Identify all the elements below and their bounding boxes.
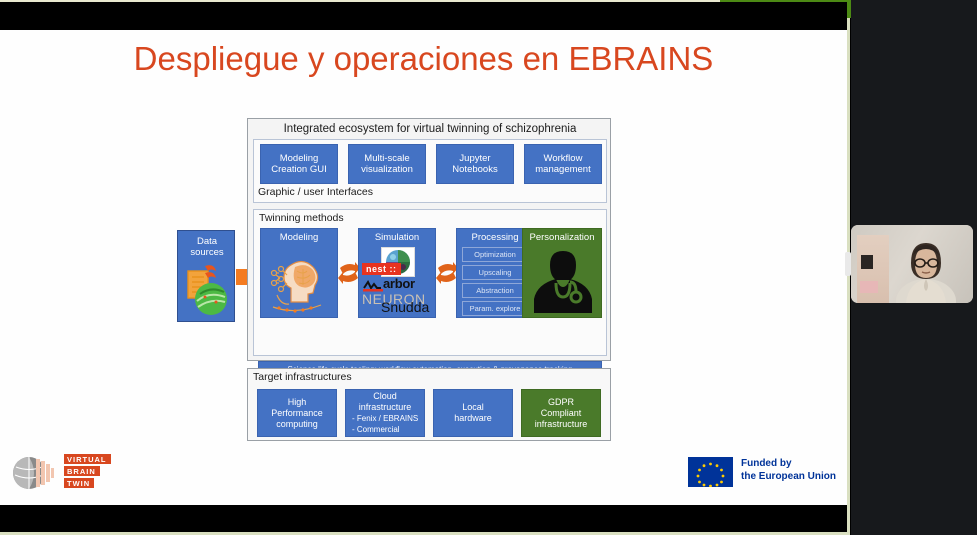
letterbox-bottom-bar bbox=[0, 505, 847, 532]
infrastructure-section-caption: Target infrastructures bbox=[253, 371, 352, 383]
brain-globe-logo-icon bbox=[10, 453, 58, 493]
shared-screen-stage[interactable]: Despliegue y operaciones en EBRAINS Data… bbox=[0, 0, 851, 535]
gui-box-line2: Creation GUI bbox=[271, 164, 326, 176]
target-infrastructures-panel: Target infrastructures High Performance … bbox=[247, 368, 611, 441]
arbor-text: arbor bbox=[383, 276, 415, 291]
gui-box-line1: Modeling bbox=[280, 153, 319, 165]
infra-line: High bbox=[258, 397, 336, 408]
gui-box-line2: management bbox=[535, 164, 590, 176]
infra-line: Local bbox=[434, 402, 512, 413]
gui-box-jupyter-notebooks[interactable]: Jupyter Notebooks bbox=[436, 144, 514, 184]
gui-box-workflow-management[interactable]: Workflow management bbox=[524, 144, 602, 184]
infra-line: infrastructure bbox=[522, 419, 600, 430]
eu-text-line2: the European Union bbox=[741, 470, 836, 483]
processing-step-upscaling[interactable]: Upscaling bbox=[462, 265, 528, 280]
arbor-logo: arbor bbox=[363, 278, 437, 292]
gui-box-line1: Jupyter bbox=[459, 153, 490, 165]
letterbox-top-bar bbox=[0, 2, 847, 30]
doctor-silhouette-icon bbox=[523, 247, 603, 315]
infra-line: Compliant bbox=[522, 408, 600, 419]
processing-step-param-explore[interactable]: Param. explore bbox=[462, 301, 528, 316]
webcam-participant-tile[interactable] bbox=[851, 225, 973, 303]
infra-line: computing bbox=[258, 419, 336, 430]
snudda-logo: Snudda bbox=[381, 299, 429, 315]
infra-line: Cloud bbox=[346, 391, 424, 402]
virtual-brain-twin-logo: VIRTUAL BRAIN TWIN bbox=[10, 452, 120, 494]
gui-box-line2: Notebooks bbox=[452, 164, 497, 176]
gui-box-line2: visualization bbox=[361, 164, 413, 176]
ecosystem-panel: Integrated ecosystem for virtual twinnin… bbox=[247, 118, 611, 361]
nest-logo: nest :: bbox=[362, 263, 401, 275]
gui-box-multiscale-visualization[interactable]: Multi-scale visualization bbox=[348, 144, 426, 184]
webcam-person-silhouette bbox=[895, 239, 957, 303]
head-brain-network-icon bbox=[261, 249, 339, 317]
processing-step-optimization[interactable]: Optimization bbox=[462, 247, 528, 262]
data-sources-line1: Data bbox=[197, 236, 217, 247]
vbt-word-brain: BRAIN bbox=[64, 466, 100, 476]
twinning-box-modeling[interactable]: Modeling bbox=[260, 228, 338, 318]
infra-line: Performance bbox=[258, 408, 336, 419]
gui-section-caption: Graphic / user Interfaces bbox=[258, 186, 373, 198]
page-title: Despliegue y operaciones en EBRAINS bbox=[0, 40, 847, 78]
twinning-box-simulation[interactable]: Simulation nest :: bbox=[358, 228, 436, 318]
twinning-box-personalization[interactable]: Personalization bbox=[522, 228, 602, 318]
vbt-word-virtual: VIRTUAL bbox=[64, 454, 111, 464]
webcam-background-poster bbox=[860, 281, 878, 293]
eu-funding-logo: Funded by the European Union bbox=[688, 455, 838, 487]
twinning-methods-panel: Twinning methods Modeling bbox=[253, 209, 607, 356]
webcam-background-object bbox=[861, 255, 873, 269]
graphic-user-interfaces-panel: Modeling Creation GUI Multi-scale visual… bbox=[253, 139, 607, 203]
infra-line: hardware bbox=[434, 413, 512, 424]
twinning-box-title: Simulation bbox=[359, 232, 435, 243]
screen-root: Despliegue y operaciones en EBRAINS Data… bbox=[0, 0, 977, 535]
infra-box-cloud[interactable]: Cloud infrastructure - Fenix / EBRAINS -… bbox=[345, 389, 425, 437]
presentation-slide: Despliegue y operaciones en EBRAINS Data… bbox=[0, 30, 847, 505]
infra-line: GDPR bbox=[522, 397, 600, 408]
gui-boxes-row: Modeling Creation GUI Multi-scale visual… bbox=[260, 144, 602, 184]
twinning-box-title: Personalization bbox=[523, 232, 601, 243]
infra-line: - Fenix / EBRAINS bbox=[346, 413, 424, 424]
ecosystem-title: Integrated ecosystem for virtual twinnin… bbox=[248, 123, 612, 135]
gui-box-modeling-creation[interactable]: Modeling Creation GUI bbox=[260, 144, 338, 184]
vbt-word-twin: TWIN bbox=[64, 478, 94, 488]
twinning-section-caption: Twinning methods bbox=[259, 212, 344, 224]
eu-text-line1: Funded by bbox=[741, 457, 836, 470]
data-sources-label: Data sources bbox=[178, 236, 236, 258]
gui-box-line1: Workflow bbox=[544, 153, 583, 165]
data-sources-box: Data sources bbox=[177, 230, 235, 322]
document-globe-icon bbox=[178, 257, 236, 323]
infra-box-gdpr[interactable]: GDPR Compliant infrastructure bbox=[521, 389, 601, 437]
eu-flag-icon bbox=[688, 457, 733, 487]
infra-line: infrastructure bbox=[346, 402, 424, 413]
stage-right-edge bbox=[847, 18, 850, 535]
processing-step-abstraction[interactable]: Abstraction bbox=[462, 283, 528, 298]
twinning-box-title: Modeling bbox=[261, 232, 337, 243]
gui-box-line1: Multi-scale bbox=[364, 153, 409, 165]
infra-box-local-hardware[interactable]: Local hardware bbox=[433, 389, 513, 437]
eu-funding-text: Funded by the European Union bbox=[741, 457, 836, 483]
infra-line: - Commercial bbox=[346, 424, 424, 435]
infra-box-hpc[interactable]: High Performance computing bbox=[257, 389, 337, 437]
